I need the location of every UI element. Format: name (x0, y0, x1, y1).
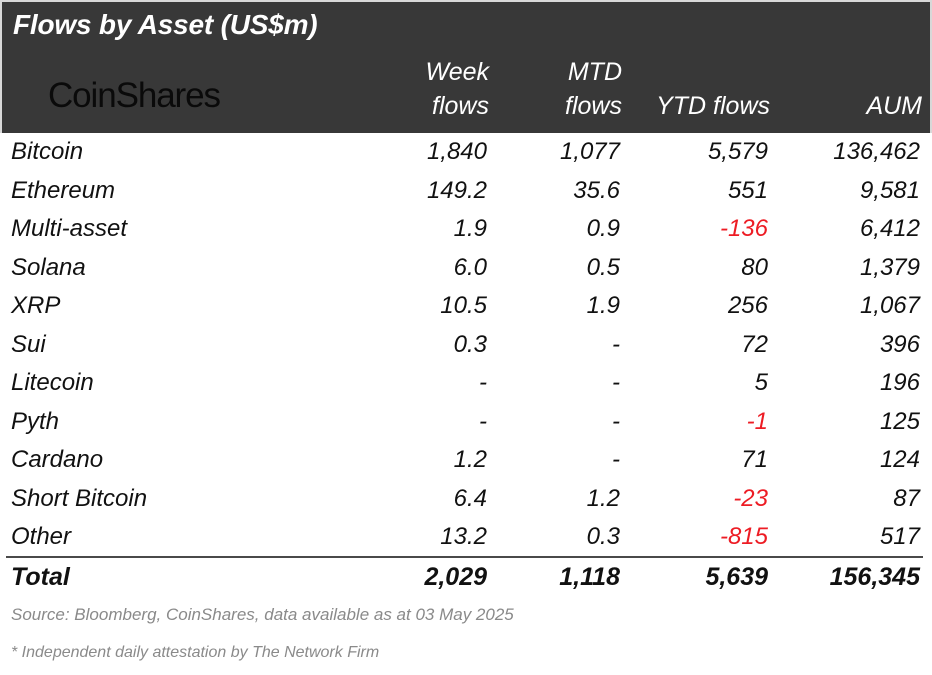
asset-name: Multi-asset (11, 210, 127, 249)
table-row: Solana6.00.5801,379 (0, 249, 932, 288)
table-row: Pyth---1125 (0, 403, 932, 442)
aum: 396 (720, 326, 920, 365)
asset-name: Pyth (11, 403, 59, 442)
total-label: Total (11, 558, 70, 596)
aum: 1,379 (720, 249, 920, 288)
aum: 124 (720, 441, 920, 480)
table-row: Short Bitcoin6.41.2-2387 (0, 480, 932, 519)
total-aum: 156,345 (720, 558, 920, 596)
flows-by-asset-table-figure: Flows by Asset (US$m) CoinShares Week fl… (0, 0, 932, 675)
table-row: Sui0.3-72396 (0, 326, 932, 365)
table-row: Cardano1.2-71124 (0, 441, 932, 480)
footnote-source: Source: Bloomberg, CoinShares, data avai… (11, 605, 514, 625)
table-row: Ethereum149.235.65519,581 (0, 172, 932, 211)
table-body: Bitcoin1,8401,0775,579136,462Ethereum149… (0, 133, 932, 557)
page-title: Flows by Asset (US$m) (13, 9, 317, 41)
table-row: Other13.20.3-815517 (0, 518, 932, 557)
table-row-total: Total 2,029 1,118 5,639 156,345 (0, 558, 932, 596)
aum: 6,412 (720, 210, 920, 249)
asset-name: Ethereum (11, 172, 115, 211)
footnote-attestation: * Independent daily attestation by The N… (11, 644, 379, 662)
aum: 9,581 (720, 172, 920, 211)
table-row: Bitcoin1,8401,0775,579136,462 (0, 133, 932, 172)
aum: 125 (720, 403, 920, 442)
asset-name: Cardano (11, 441, 103, 480)
asset-name: Other (11, 518, 71, 557)
column-header-aum: AUM (722, 89, 922, 123)
aum: 196 (720, 364, 920, 403)
asset-name: Short Bitcoin (11, 480, 147, 519)
table-row: Litecoin--5196 (0, 364, 932, 403)
table-header-band: Flows by Asset (US$m) CoinShares Week fl… (0, 0, 932, 133)
aum: 517 (720, 518, 920, 557)
aum: 136,462 (720, 133, 920, 172)
asset-name: Sui (11, 326, 46, 365)
aum: 87 (720, 480, 920, 519)
table-row: XRP10.51.92561,067 (0, 287, 932, 326)
asset-name: XRP (11, 287, 60, 326)
aum: 1,067 (720, 287, 920, 326)
asset-name: Solana (11, 249, 86, 288)
table-row: Multi-asset1.90.9-1366,412 (0, 210, 932, 249)
asset-name: Bitcoin (11, 133, 83, 172)
coinshares-logo: CoinShares (48, 76, 220, 116)
asset-name: Litecoin (11, 364, 94, 403)
